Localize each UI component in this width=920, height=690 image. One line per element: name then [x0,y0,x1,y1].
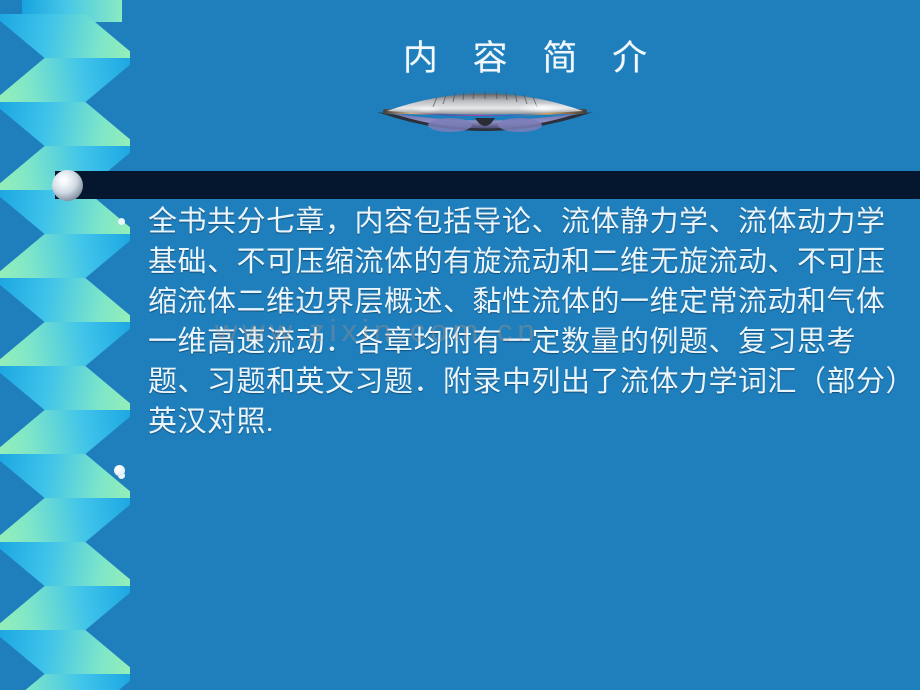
sphere-bullet-icon [52,170,83,201]
ribbon-band [0,542,130,586]
bullet-dot-icon [118,218,125,225]
accent-dot-icon [114,465,125,476]
page-title: 内 容 简 介 [130,30,920,81]
ribbon-band [0,498,130,542]
presentation-slide: 内 容 简 介 [0,0,920,690]
list-item-label: 全书共分七章，内容包括导论、流体静力学、流体动力学基础、不可压缩流体的有旋流动和… [148,202,908,442]
ribbon-band [0,586,130,630]
list-item: 全书共分七章，内容包括导论、流体静力学、流体动力学基础、不可压缩流体的有旋流动和… [108,202,908,442]
ribbon-band [0,674,130,690]
ufo-saucer-icon [375,88,595,140]
list-item [108,456,908,486]
body-content: 全书共分七章，内容包括导论、流体静力学、流体动力学基础、不可压缩流体的有旋流动和… [108,202,908,486]
ribbon-band [0,58,130,102]
horizontal-divider-bar [55,171,920,199]
list-item-label [148,456,908,486]
ribbon-band [0,630,130,674]
ribbon-band [0,102,130,146]
